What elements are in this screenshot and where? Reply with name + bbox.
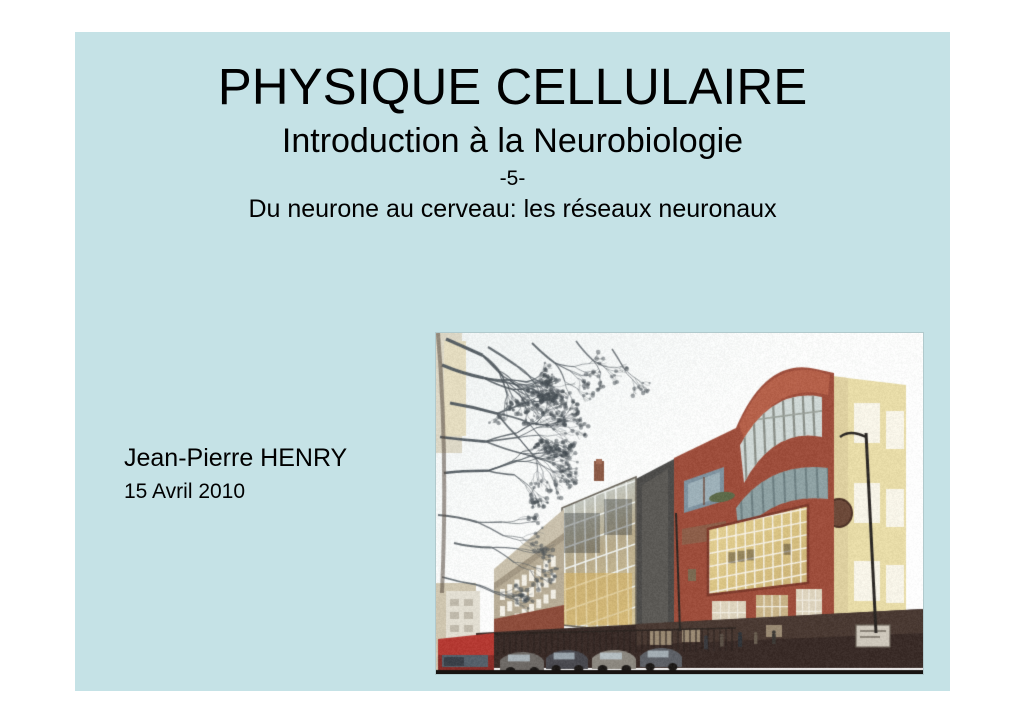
subtitle-section-number: -5- (75, 162, 950, 192)
title-block: PHYSIQUE CELLULAIRE Introduction à la Ne… (75, 32, 950, 225)
author-date: 15 Avril 2010 (124, 474, 347, 505)
slide-canvas: PHYSIQUE CELLULAIRE Introduction à la Ne… (75, 32, 950, 691)
building-photo-canvas (436, 333, 923, 674)
subtitle-line-1: Introduction à la Neurobiologie (75, 117, 950, 162)
slide-page: PHYSIQUE CELLULAIRE Introduction à la Ne… (0, 0, 1024, 724)
author-block: Jean-Pierre HENRY 15 Avril 2010 (124, 443, 347, 505)
building-photo (436, 333, 923, 674)
page-title: PHYSIQUE CELLULAIRE (75, 32, 950, 117)
subtitle-line-3: Du neurone au cerveau: les réseaux neuro… (75, 192, 950, 225)
author-name: Jean-Pierre HENRY (124, 443, 347, 474)
